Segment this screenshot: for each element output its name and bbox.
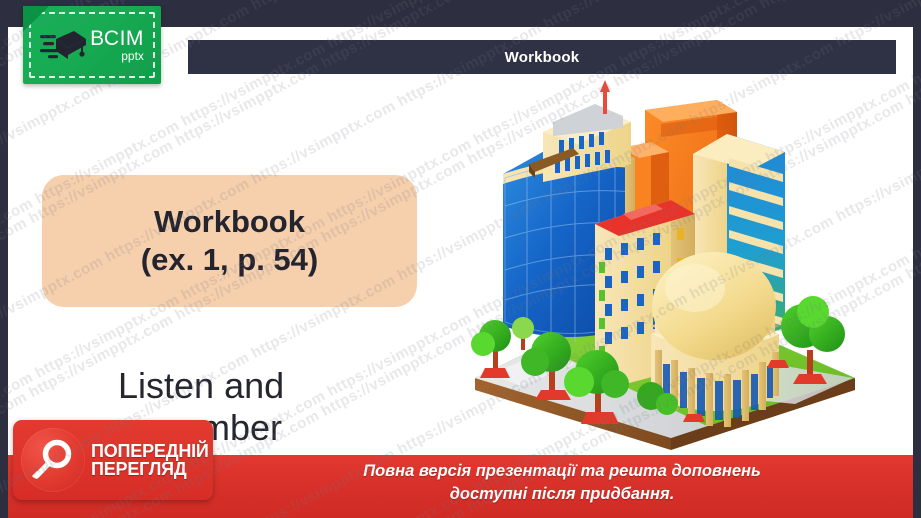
preview-badge-line2: ПЕРЕГЛЯД (91, 460, 209, 478)
logo-brand-text: ВСІМ (90, 28, 144, 49)
workbook-title-line1: Workbook (154, 203, 305, 241)
graduation-cap-icon (40, 23, 86, 67)
slide-header-bar: Workbook (188, 40, 896, 74)
vsimpptx-logo[interactable]: ВСІМ pptx (23, 6, 161, 84)
purchase-notice-line1: Повна версія презентації та решта доповн… (223, 460, 901, 483)
purchase-notice-text: Повна версія презентації та решта доповн… (223, 460, 901, 507)
isometric-city-illustration (455, 78, 895, 456)
header-title: Workbook (505, 49, 580, 66)
workbook-title-line2: (ex. 1, p. 54) (141, 241, 318, 279)
presentation-slide: Workbook (0, 0, 921, 518)
workbook-title-box: Workbook (ex. 1, p. 54) (42, 175, 417, 307)
purchase-notice-line2: доступні після придбання. (223, 483, 901, 506)
logo-sub-text: pptx (90, 50, 144, 62)
magnifier-icon (21, 428, 85, 492)
preview-badge-text: ПОПЕРЕДНІЙ ПЕРЕГЛЯД (91, 442, 209, 479)
preview-badge[interactable]: ПОПЕРЕДНІЙ ПЕРЕГЛЯД (13, 420, 213, 500)
preview-badge-line1: ПОПЕРЕДНІЙ (91, 442, 209, 460)
